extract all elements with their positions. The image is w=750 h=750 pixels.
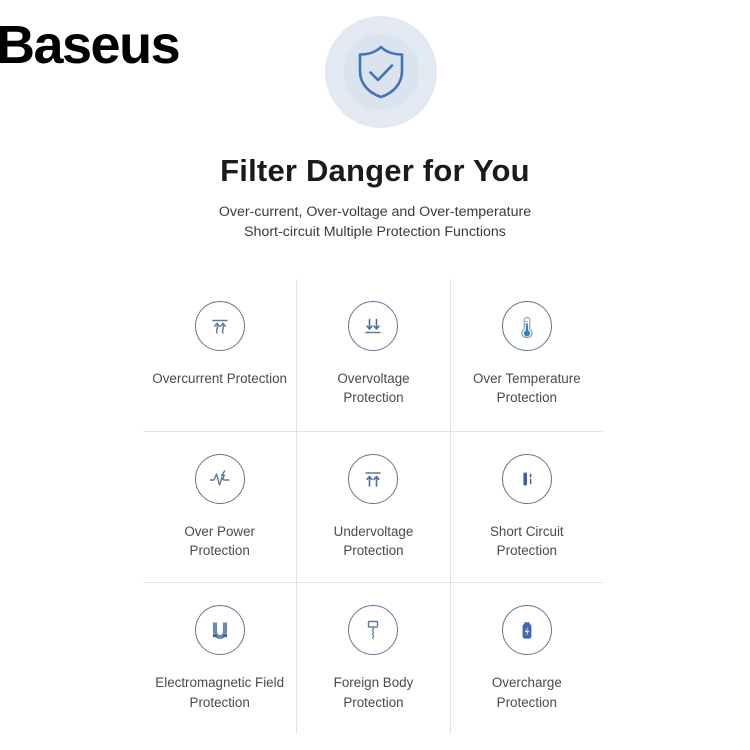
feature-label: Over Temperature Protection bbox=[473, 369, 581, 408]
feature-label: Foreign Body Protection bbox=[334, 673, 414, 712]
feature-label: Undervoltage Protection bbox=[334, 522, 414, 561]
current-up-arrows-icon bbox=[195, 301, 245, 351]
feature-cell-overcurrent: Overcurrent Protection bbox=[143, 279, 296, 431]
title-block: Filter Danger for You Over-current, Over… bbox=[0, 152, 750, 243]
feature-label: Overcharge Protection bbox=[492, 673, 562, 712]
feature-label: Over Power Protection bbox=[184, 522, 255, 561]
feature-cell-foreign-body: Foreign Body Protection bbox=[296, 582, 449, 734]
feature-cell-overvoltage: Overvoltage Protection bbox=[296, 279, 449, 431]
voltage-down-arrows-icon bbox=[348, 301, 398, 351]
feature-cell-undervoltage: Undervoltage Protection bbox=[296, 431, 449, 583]
feature-cell-overcharge: Overcharge Protection bbox=[450, 582, 603, 734]
protection-feature-grid: Overcurrent Protection Overvoltage Prote… bbox=[143, 279, 603, 734]
page-title: Filter Danger for You bbox=[0, 152, 750, 189]
feature-cell-electromagnetic: Electromagnetic Field Protection bbox=[143, 582, 296, 734]
feature-label: Short Circuit Protection bbox=[490, 522, 564, 561]
subtitle-line-1: Over-current, Over-voltage and Over-temp… bbox=[0, 202, 750, 222]
foreign-body-probe-icon bbox=[348, 605, 398, 655]
page-header: Baseus bbox=[0, 0, 750, 140]
subtitle-line-2: Short-circuit Multiple Protection Functi… bbox=[0, 222, 750, 242]
feature-label: Electromagnetic Field Protection bbox=[155, 673, 284, 712]
brand-logo: Baseus bbox=[0, 18, 179, 72]
page-subtitle: Over-current, Over-voltage and Over-temp… bbox=[0, 202, 750, 242]
feature-cell-over-temperature: Over Temperature Protection bbox=[450, 279, 603, 431]
undervoltage-up-arrows-icon bbox=[348, 454, 398, 504]
short-circuit-bar-icon bbox=[502, 454, 552, 504]
battery-bolt-icon bbox=[502, 605, 552, 655]
magnet-icon bbox=[195, 605, 245, 655]
thermometer-icon bbox=[502, 301, 552, 351]
shield-check-icon bbox=[355, 44, 407, 100]
feature-cell-over-power: Over Power Protection bbox=[143, 431, 296, 583]
power-waveform-icon bbox=[195, 454, 245, 504]
hero-shield-badge bbox=[325, 16, 437, 128]
feature-label: Overvoltage Protection bbox=[337, 369, 409, 408]
feature-cell-short-circuit: Short Circuit Protection bbox=[450, 431, 603, 583]
feature-label: Overcurrent Protection bbox=[152, 369, 287, 388]
